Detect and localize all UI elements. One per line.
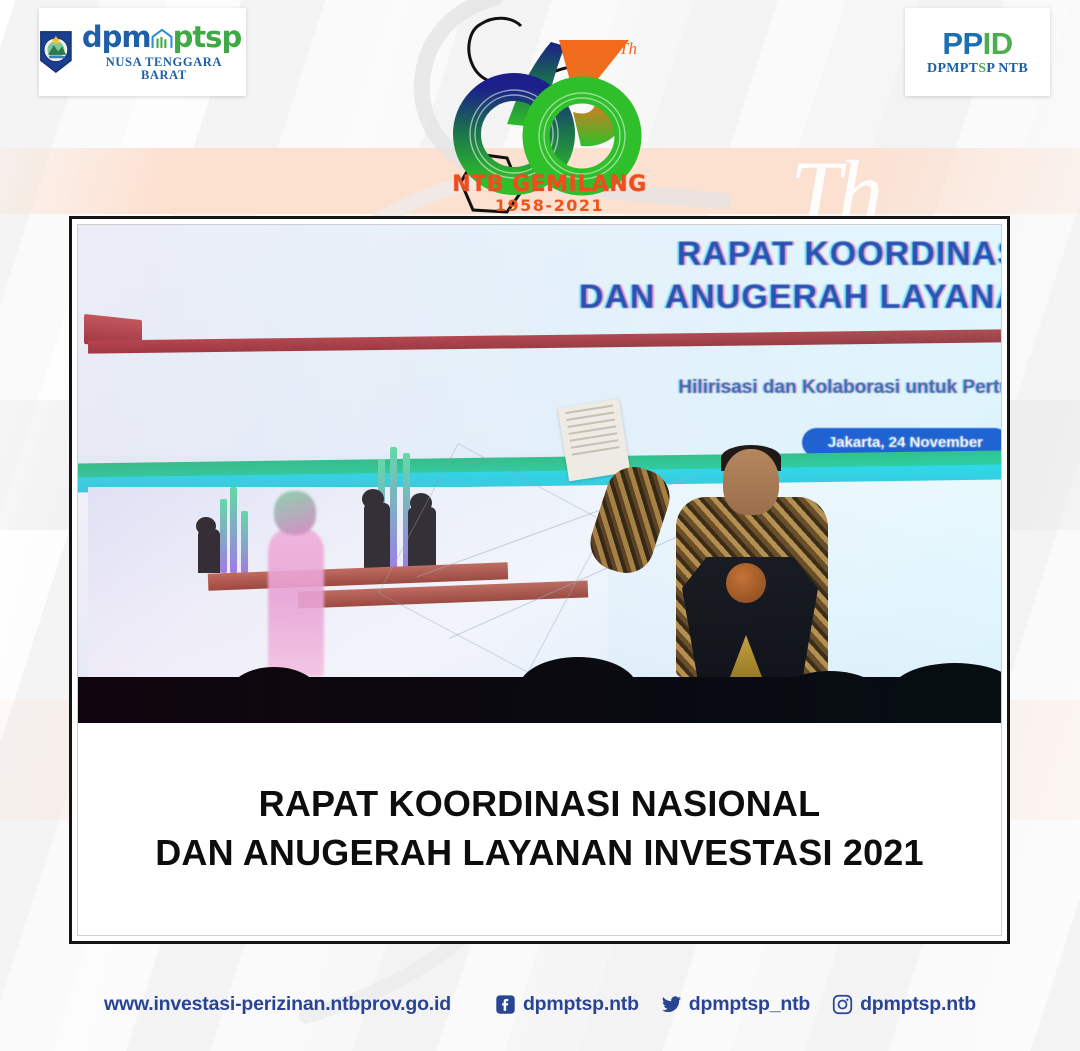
instagram-handle: dpmptsp.ntb [860, 993, 976, 1016]
dpmptsp-wordmark: dpm ptsp NUSA TENGGARA BARAT [82, 23, 246, 81]
ppid-logo: PPID DPMPTSP NTB [927, 28, 1028, 76]
screen-person-head [274, 491, 316, 535]
slide-subtitle: Hilirisasi dan Kolaborasi untuk Pertu [678, 377, 1001, 399]
slide-title-line1: RAPAT KOORDINAS [677, 235, 1001, 273]
dpmptsp-logo: dpm ptsp NUSA TENGGARA BARAT [39, 23, 246, 81]
anniversary-ordinal-th: Th [619, 39, 637, 58]
twitter-icon [661, 994, 682, 1015]
caption-block: RAPAT KOORDINASI NASIONAL DAN ANUGERAH L… [78, 723, 1001, 935]
ntb-provincial-emblem-icon [39, 30, 73, 74]
facebook-handle: dpmptsp.ntb [523, 993, 639, 1016]
ppid-wordmark: PPID [927, 28, 1028, 59]
twitter-handle: dpmptsp_ntb [689, 993, 810, 1016]
footer-bar: www.investasi-perizinan.ntbprov.go.id dp… [0, 982, 1080, 1026]
audience-silhouette [78, 677, 1001, 723]
caption-line-2: DAN ANUGERAH LAYANAN INVESTASI 2021 [155, 829, 924, 878]
audience-head-3 [778, 671, 882, 723]
ppid-logo-card: PPID DPMPTSP NTB [905, 8, 1050, 96]
event-photo: RAPAT KOORDINAS DAN ANUGERAH LAYANA Hili… [78, 225, 1001, 723]
rebar-3 [241, 511, 248, 573]
ppid-sub-suffix: P NTB [986, 61, 1028, 76]
photo-frame: RAPAT KOORDINAS DAN ANUGERAH LAYANA Hili… [69, 216, 1010, 944]
ppid-sub-prefix: DPMPT [927, 61, 978, 76]
facebook-link[interactable]: dpmptsp.ntb [495, 993, 639, 1016]
dpmptsp-subtitle: NUSA TENGGARA BARAT [82, 56, 246, 81]
caption-line-1: RAPAT KOORDINASI NASIONAL [259, 780, 821, 829]
worker-3 [198, 529, 220, 573]
poster-canvas: Th NTB GEMILANG 1958-2021 dpm [0, 0, 1080, 1051]
anniversary-years: 1958-2021 [447, 196, 652, 215]
dpmptsp-logo-card: dpm ptsp NUSA TENGGARA BARAT [39, 8, 246, 96]
ppid-subtitle: DPMPTSP NTB [927, 62, 1028, 76]
audience-head-4 [890, 663, 1001, 723]
speaker-head [723, 449, 779, 515]
held-document [558, 399, 631, 482]
worker-3-head [196, 517, 216, 535]
website-url-text: www.investasi-perizinan.ntbprov.go.id [104, 993, 451, 1016]
worker-1-head [362, 489, 384, 509]
website-link[interactable]: www.investasi-perizinan.ntbprov.go.id [104, 993, 451, 1016]
ppid-pp-text: PP [942, 26, 982, 61]
rebar-1 [220, 499, 227, 573]
ntb-gemilang-anniversary-logo: Th NTB GEMILANG 1958-2021 [447, 6, 652, 216]
anniversary-title: NTB GEMILANG [447, 172, 652, 197]
slide-title: RAPAT KOORDINAS DAN ANUGERAH LAYANA [78, 233, 1001, 318]
dpm-blue-text: dpm [82, 23, 151, 52]
rebar-5 [390, 447, 397, 571]
audience-head-1 [228, 667, 320, 723]
rebar-2 [230, 487, 237, 573]
screen-person-figure [268, 527, 324, 677]
ppid-id-text: ID [983, 26, 1013, 61]
podium-seal-icon [726, 563, 766, 603]
building-icon [151, 25, 173, 46]
audience-head-2 [518, 657, 638, 723]
facebook-icon [495, 994, 516, 1015]
slide-title-line2: DAN ANUGERAH LAYANA [78, 276, 1001, 319]
instagram-icon [832, 994, 853, 1015]
instagram-link[interactable]: dpmptsp.ntb [832, 993, 976, 1016]
dpmptsp-wordmark-main: dpm ptsp [82, 23, 246, 52]
photo-frame-inner: RAPAT KOORDINAS DAN ANUGERAH LAYANA Hili… [77, 224, 1002, 936]
twitter-link[interactable]: dpmptsp_ntb [661, 993, 810, 1016]
ptsp-green-text: ptsp [173, 23, 242, 52]
worker-1 [364, 503, 390, 575]
